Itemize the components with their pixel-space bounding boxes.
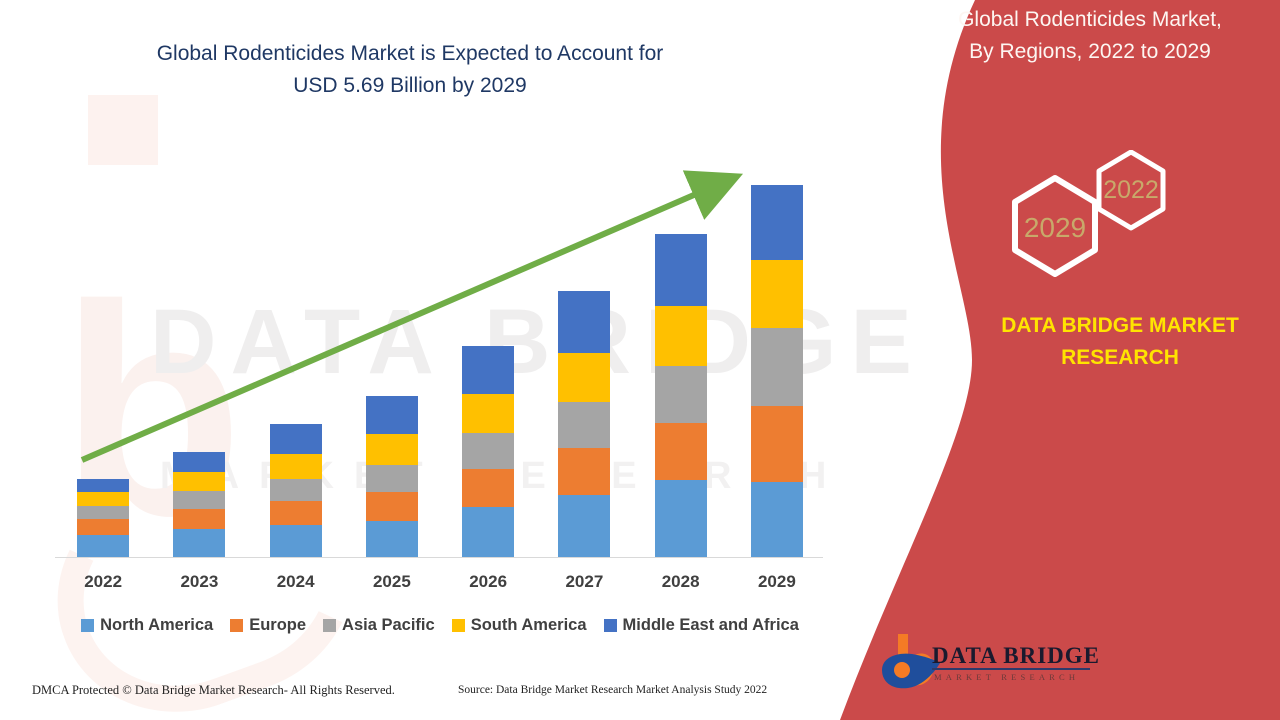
legend-item[interactable]: North America [81,616,213,635]
bar-segment[interactable] [366,434,418,465]
bar-segment[interactable] [366,465,418,492]
x-axis-tick-2024: 2024 [248,572,344,592]
bar-segment[interactable] [655,306,707,366]
legend-label: South America [471,616,587,635]
bar-segment[interactable] [462,394,514,433]
stacked-bar[interactable] [655,234,707,557]
bar-segment[interactable] [462,433,514,469]
bar-segment[interactable] [77,479,129,492]
bar-segment[interactable] [270,501,322,525]
x-axis-tick-2029: 2029 [729,572,825,592]
bar-column-2028 [633,234,729,557]
svg-text:2022: 2022 [1103,176,1159,204]
bar-segment[interactable] [558,495,610,557]
stacked-bar[interactable] [77,479,129,557]
page-title: Global Rodenticides Market is Expected t… [60,38,760,102]
legend-label: Europe [249,616,306,635]
bar-segment[interactable] [270,525,322,557]
stacked-bar[interactable] [366,396,418,557]
bar-segment[interactable] [173,452,225,472]
legend-item[interactable]: Europe [230,616,306,635]
dmca-notice: DMCA Protected © Data Bridge Market Rese… [32,683,395,698]
source-note: Source: Data Bridge Market Research Mark… [458,684,767,696]
panel-title-line2: By Regions, 2022 to 2029 [900,36,1280,68]
stacked-bar[interactable] [558,291,610,557]
legend-label: Middle East and Africa [623,616,799,635]
logo-tagline: MARKET RESEARCH [934,672,1079,682]
bar-segment[interactable] [558,448,610,495]
bar-segment[interactable] [270,454,322,479]
bar-segment[interactable] [366,521,418,557]
x-axis-labels: 20222023202420252026202720282029 [55,572,825,592]
bar-segment[interactable] [558,402,610,448]
legend-label: Asia Pacific [342,616,435,635]
legend-swatch-icon [81,619,94,632]
bar-segment[interactable] [77,535,129,557]
stacked-bar[interactable] [751,185,803,557]
bar-segment[interactable] [173,472,225,491]
year-hexagon-group: 2022 2029 [985,150,1185,290]
hexagons-svg: 2022 2029 [985,150,1185,290]
bar-segment[interactable] [655,423,707,480]
bar-segment[interactable] [655,480,707,557]
logo-divider [932,668,1090,670]
legend-swatch-icon [230,619,243,632]
bar-column-2029 [729,185,825,557]
stacked-bar[interactable] [270,424,322,557]
bar-segment[interactable] [77,506,129,519]
bar-segment[interactable] [462,469,514,507]
x-axis-line [55,557,823,558]
bar-column-2024 [248,424,344,557]
legend-swatch-icon [452,619,465,632]
svg-text:2029: 2029 [1024,212,1086,243]
bar-column-2023 [151,452,247,557]
bar-column-2026 [440,346,536,557]
bar-segment[interactable] [558,291,610,353]
bar-segment[interactable] [751,185,803,260]
logo-wordmark: DATA BRIDGE [932,643,1100,669]
legend-item[interactable]: Middle East and Africa [604,616,799,635]
bar-segment[interactable] [751,260,803,328]
bar-segment[interactable] [77,519,129,535]
x-axis-tick-2022: 2022 [55,572,151,592]
bar-segment[interactable] [751,328,803,406]
bar-segment[interactable] [751,482,803,557]
brand-heading-line2: RESEARCH [960,342,1280,374]
bar-column-2025 [344,396,440,557]
stacked-bar-chart [55,150,825,557]
bar-segment[interactable] [173,491,225,509]
bar-segment[interactable] [77,492,129,506]
brand-heading-line1: DATA BRIDGE MARKET [960,310,1280,342]
bar-segment[interactable] [173,529,225,557]
panel-title: Global Rodenticides Market, By Regions, … [900,4,1280,68]
bar-segment[interactable] [751,406,803,482]
panel-title-line1: Global Rodenticides Market, [900,4,1280,36]
bar-segment[interactable] [655,366,707,423]
page-title-line2: USD 5.69 Billion by 2029 [60,70,760,102]
x-axis-tick-2026: 2026 [440,572,536,592]
legend-label: North America [100,616,213,635]
legend-swatch-icon [323,619,336,632]
bar-column-2022 [55,479,151,557]
x-axis-tick-2025: 2025 [344,572,440,592]
bar-segment[interactable] [462,346,514,394]
chart-legend: North AmericaEuropeAsia PacificSouth Ame… [55,616,825,635]
legend-item[interactable]: Asia Pacific [323,616,435,635]
bar-column-2027 [536,291,632,557]
bar-segment[interactable] [366,492,418,521]
stacked-bar[interactable] [462,346,514,557]
bar-segment[interactable] [366,396,418,434]
page-title-line1: Global Rodenticides Market is Expected t… [60,38,760,70]
bar-segment[interactable] [655,234,707,306]
stacked-bar[interactable] [173,452,225,557]
hexagon-2022: 2022 [1099,152,1163,228]
legend-item[interactable]: South America [452,616,587,635]
brand-heading: DATA BRIDGE MARKET RESEARCH [960,310,1280,374]
bar-segment[interactable] [558,353,610,402]
hexagon-2029: 2029 [1015,178,1095,274]
bar-segment[interactable] [270,424,322,454]
legend-swatch-icon [604,619,617,632]
bar-segment[interactable] [462,507,514,557]
x-axis-tick-2028: 2028 [633,572,729,592]
bar-segment[interactable] [173,509,225,529]
bar-segment[interactable] [270,479,322,501]
infographic-canvas: b DATA BRIDGE MARKET RESEARCH Global Rod… [0,0,1280,720]
x-axis-tick-2023: 2023 [151,572,247,592]
x-axis-tick-2027: 2027 [536,572,632,592]
